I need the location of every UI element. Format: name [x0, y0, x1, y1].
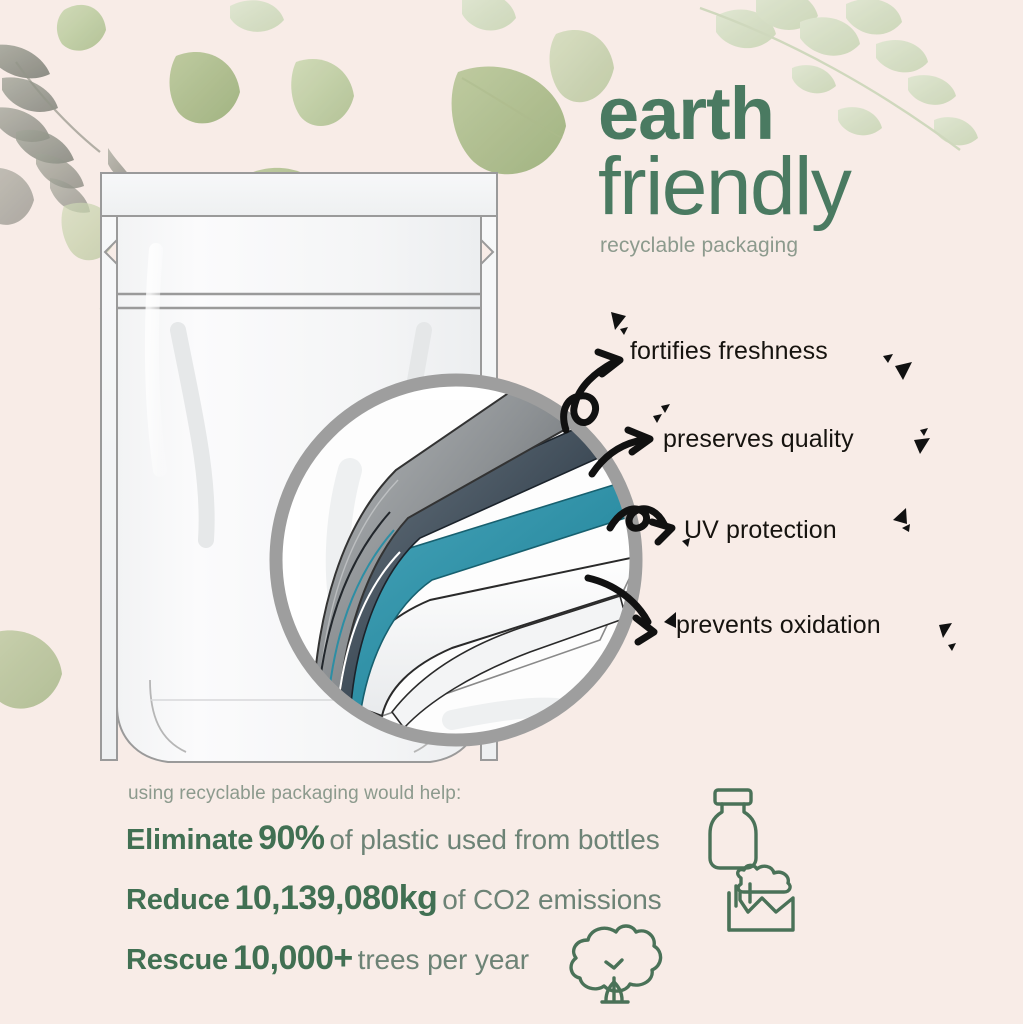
pouch-highlight [152, 250, 160, 470]
lens-inner-highlight-top [338, 470, 350, 620]
arrow-prevents-oxidation [588, 578, 648, 622]
pouch-notch-left [101, 216, 117, 760]
pouch-crease-left [178, 330, 207, 540]
leaf [114, 601, 202, 680]
magnifier-lens [276, 380, 636, 740]
infographic-poster: earth friendly recyclable packaging fort… [0, 0, 1023, 1024]
leaf [57, 5, 106, 51]
stat-row: Rescue10,000+trees per year [126, 941, 746, 975]
headline-line-2: friendly [598, 145, 1012, 229]
stat-verb: Rescue [126, 944, 228, 976]
leaf [291, 59, 354, 126]
arrow-uv-protection [610, 509, 664, 528]
film-layer-inner-sealant [338, 556, 646, 716]
leaf [452, 66, 566, 174]
film-layer-outer-barrier [312, 366, 596, 720]
stat-value: 90% [258, 819, 324, 857]
stats-intro: using recyclable packaging would help: [128, 783, 746, 805]
feature-label-preserves-quality: preserves quality [663, 425, 854, 454]
leaf-sprig-sage [100, 287, 420, 377]
lens-inner-highlight-bottom [452, 708, 556, 720]
headline-line-1: earth [598, 78, 1012, 151]
film-layer-dark-barrier [322, 416, 616, 718]
stat-tail: trees per year [358, 944, 529, 975]
leaf [170, 52, 241, 123]
pouch-gusset-right [414, 680, 450, 752]
leaf [243, 168, 338, 255]
arrow-fortifies-freshness [564, 362, 614, 430]
feature-label-fortifies-freshness: fortifies freshness [630, 337, 828, 366]
leaf [0, 168, 34, 225]
pouch-gusset-left [150, 680, 186, 752]
leaf-sprig-dark [0, 45, 147, 213]
stat-value: 10,139,080kg [235, 879, 438, 917]
film-layer-uv-barrier [330, 478, 644, 716]
stats-block: using recyclable packaging would help: E… [126, 783, 746, 975]
leaf [62, 203, 118, 260]
pouch-top-seal [101, 173, 497, 216]
stat-row: Reduce10,139,080kgof CO2 emissions [126, 881, 746, 915]
stat-row: Eliminate90%of plastic used from bottles [126, 821, 746, 855]
stat-tail: of CO2 emissions [442, 884, 661, 915]
pouch-body [117, 216, 481, 762]
leaf [0, 630, 62, 708]
stat-verb: Reduce [126, 884, 230, 916]
arrow-preserves-quality [592, 440, 642, 474]
stat-value: 10,000+ [233, 939, 353, 977]
stat-verb: Eliminate [126, 824, 253, 856]
film-sheet-fold [392, 596, 626, 728]
feature-label-prevents-oxidation: prevents oxidation [676, 611, 881, 640]
headline-subtitle: recyclable packaging [600, 234, 1012, 258]
pouch-crease-right [399, 330, 424, 540]
headline-block: earth friendly recyclable packaging [592, 78, 1012, 258]
magnifier-ring [276, 380, 636, 740]
stat-tail: of plastic used from bottles [329, 824, 659, 855]
pouch-notch-right [481, 216, 497, 760]
feature-label-uv-protection: UV protection [684, 516, 837, 545]
